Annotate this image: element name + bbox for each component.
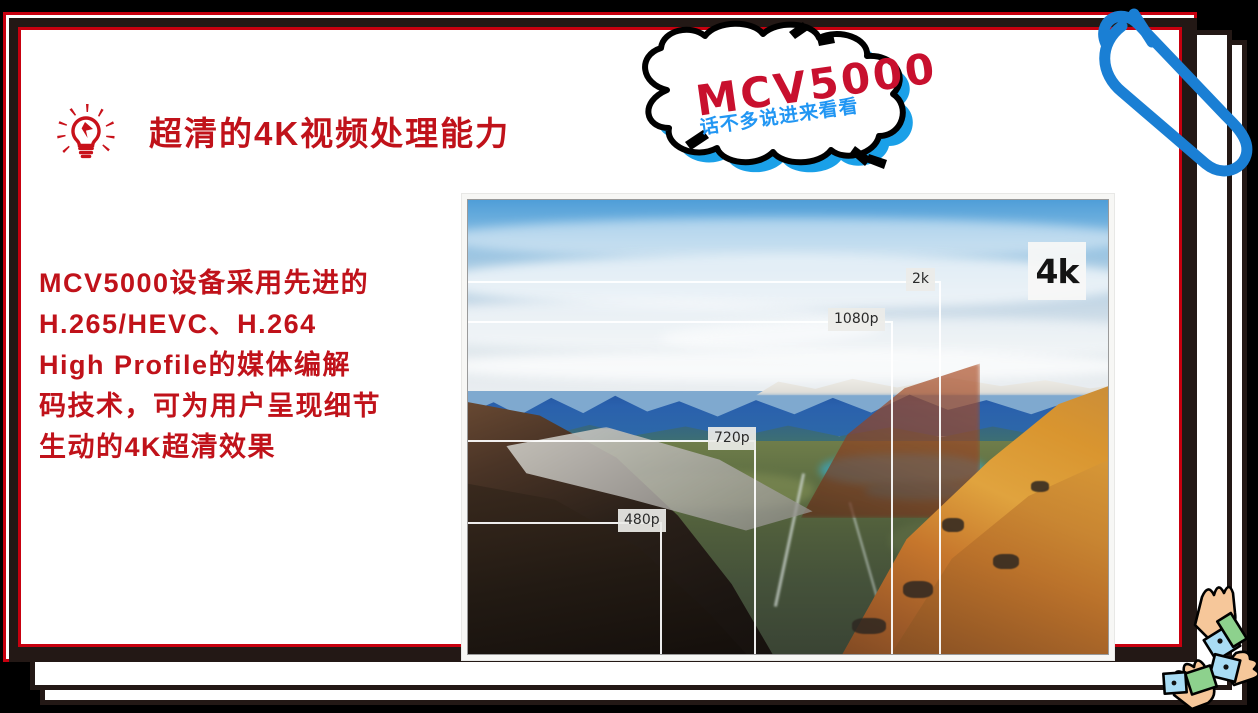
resolution-label-720p: 720p [708, 427, 756, 450]
cloud [467, 350, 1109, 382]
hands-icon [1140, 575, 1258, 713]
description-line: 生动的4K超清效果 [39, 427, 469, 468]
page-title: 超清的4K视频处理能力 [149, 117, 510, 150]
rock [993, 554, 1019, 569]
resolution-label-2k: 2k [906, 268, 935, 291]
rock [1031, 481, 1049, 492]
cloud [467, 218, 1109, 259]
card-inner-surface: 超清的4K视频处理能力 MCV5000设备采用先进的 H.265/HEVC、H.… [18, 27, 1182, 647]
rock [852, 618, 886, 634]
photo-frame: 480p 720p 1080p 2k 4k [462, 194, 1114, 660]
description-line: High Profile的媒体编解 [39, 345, 469, 386]
description-line: 码技术，可为用户呈现细节 [39, 386, 469, 427]
lightbulb-icon [49, 96, 123, 170]
description-text: MCV5000设备采用先进的 H.265/HEVC、H.264 High Pro… [39, 263, 469, 468]
resolution-label-1080p: 1080p [828, 308, 885, 331]
rock [942, 518, 964, 532]
description-line: MCV5000设备采用先进的 [39, 263, 469, 304]
resolution-label-480p: 480p [618, 509, 666, 532]
paperclip-icon [1078, 0, 1258, 191]
badge-4k: 4k [1028, 242, 1086, 300]
slide-canvas: 超清的4K视频处理能力 MCV5000设备采用先进的 H.265/HEVC、H.… [0, 0, 1258, 713]
main-card: 超清的4K视频处理能力 MCV5000设备采用先进的 H.265/HEVC、H.… [3, 12, 1197, 662]
speech-bubble: MCV5000 话不多说进来看看 [607, 18, 947, 173]
header: 超清的4K视频处理能力 [49, 96, 510, 170]
rock [903, 581, 933, 598]
description-line: H.265/HEVC、H.264 [39, 304, 469, 345]
landscape-photo: 480p 720p 1080p 2k 4k [467, 199, 1109, 655]
